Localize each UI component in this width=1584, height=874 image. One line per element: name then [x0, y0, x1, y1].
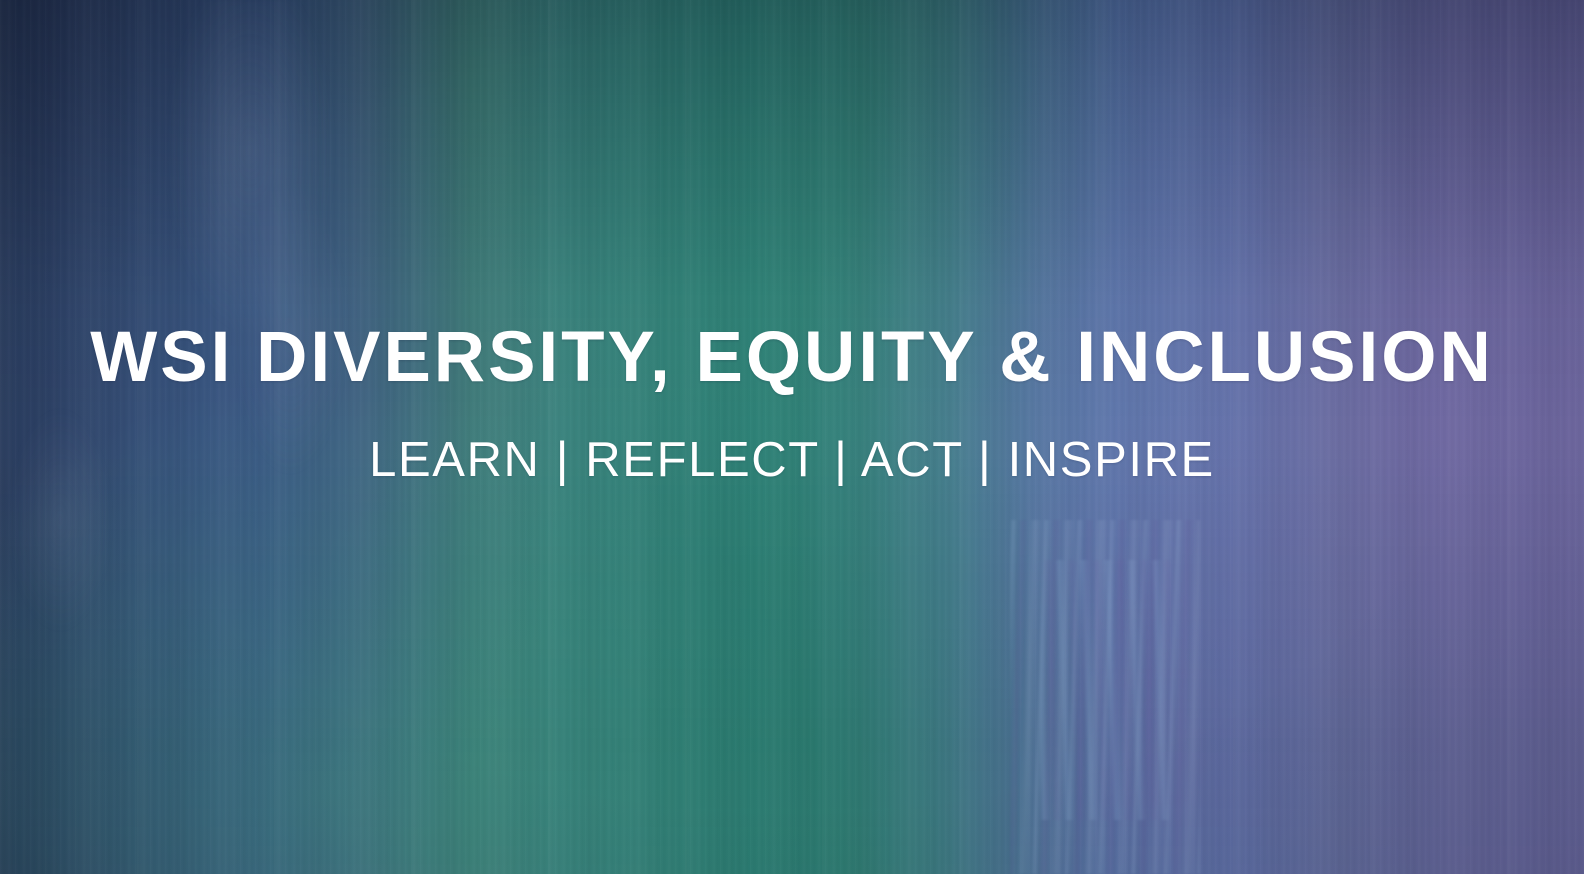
- dei-banner: WSI DIVERSITY, EQUITY & INCLUSION LEARN …: [0, 0, 1584, 874]
- banner-subheadline: LEARN | REFLECT | ACT | INSPIRE: [0, 436, 1584, 485]
- banner-content: WSI DIVERSITY, EQUITY & INCLUSION LEARN …: [0, 0, 1584, 874]
- banner-headline: WSI DIVERSITY, EQUITY & INCLUSION: [0, 322, 1584, 393]
